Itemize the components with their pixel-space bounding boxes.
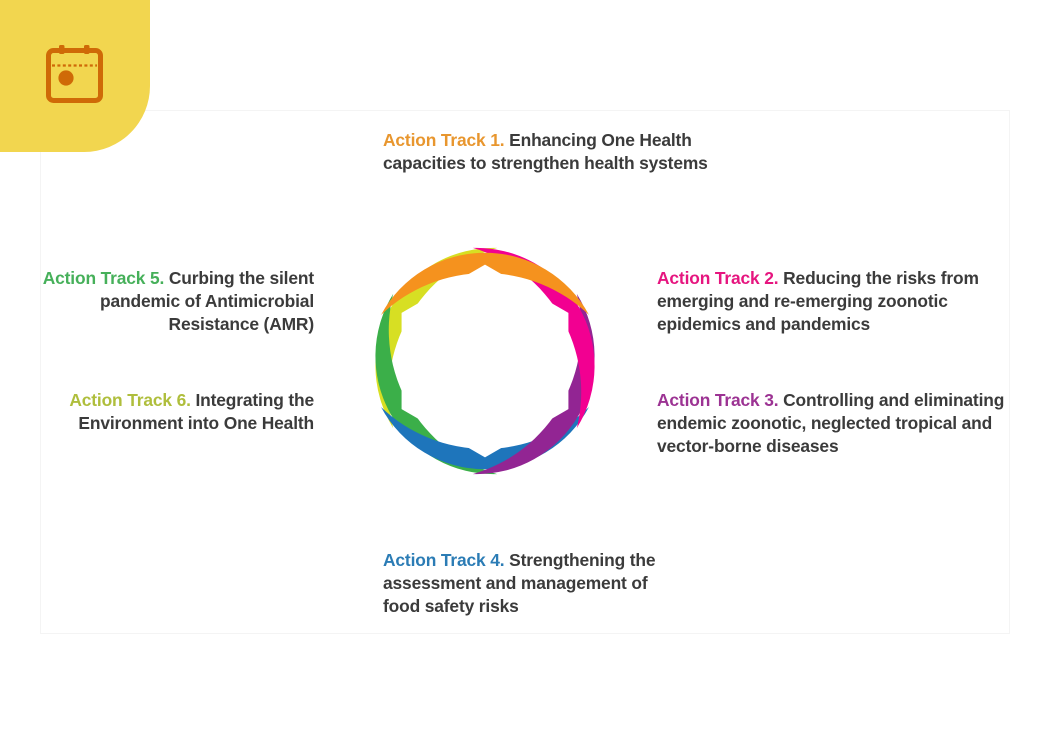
action-track-5-prefix: Action Track 5.: [43, 268, 164, 288]
one-health-flower-diagram: [320, 183, 650, 533]
action-track-5-label: Action Track 5. Curbing the silent pande…: [32, 267, 314, 336]
action-track-2-prefix: Action Track 2.: [657, 268, 778, 288]
calendar-icon: [44, 44, 105, 105]
action-track-6-label: Action Track 6. Integrating the Environm…: [32, 389, 314, 435]
action-track-4-label: Action Track 4. Strengthening the assess…: [383, 549, 683, 618]
action-track-4-prefix: Action Track 4.: [383, 550, 504, 570]
action-track-1-label: Action Track 1. Enhancing One Health cap…: [383, 129, 733, 175]
hexagon-core: [402, 265, 569, 458]
action-track-2-label: Action Track 2. Reducing the risks from …: [657, 267, 1007, 336]
action-track-1-prefix: Action Track 1.: [383, 130, 504, 150]
action-track-3-label: Action Track 3. Controlling and eliminat…: [657, 389, 1007, 458]
flower-svg: [320, 183, 650, 533]
action-track-3-prefix: Action Track 3.: [657, 390, 778, 410]
page-root: Action Track 1. Enhancing One Health cap…: [0, 0, 1050, 750]
action-track-6-prefix: Action Track 6.: [69, 390, 190, 410]
corner-badge: [0, 0, 150, 152]
